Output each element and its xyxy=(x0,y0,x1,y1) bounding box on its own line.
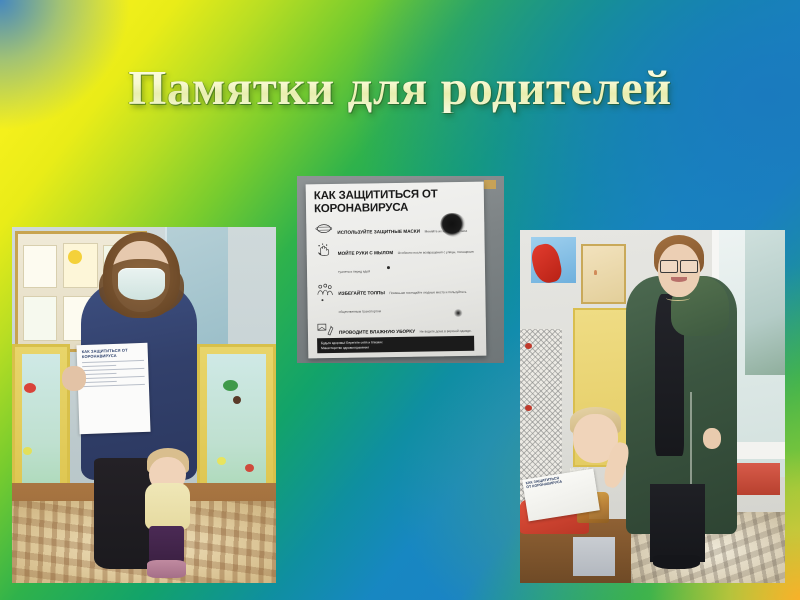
tape-corner xyxy=(484,180,496,189)
picture-figure xyxy=(594,270,597,275)
parent-legs xyxy=(650,484,706,562)
photo-right-scene: Music of Life КАК ЗАЩИТИТЬСЯ ОТ КОРОНАВИ… xyxy=(520,230,785,583)
face-mask-icon xyxy=(315,221,334,236)
cabinet-panel xyxy=(207,354,266,501)
photo-right-parent-with-boy[interactable]: Music of Life КАК ЗАЩИТИТЬСЯ ОТ КОРОНАВИ… xyxy=(520,230,785,583)
presentation-slide: Памятки для родителей xyxy=(0,0,800,600)
leaflet-line xyxy=(83,376,145,380)
flower-decoration xyxy=(245,464,254,472)
leaflet-line xyxy=(83,384,145,388)
child-trousers xyxy=(573,537,615,576)
glasses-lens xyxy=(660,260,678,273)
leaflet-line xyxy=(82,360,144,364)
parent-hand xyxy=(62,366,86,391)
photo-left-parent-with-child[interactable]: КАК ЗАЩИТИТЬСЯ ОТ КОРОНАВИРУСА xyxy=(12,227,276,583)
glasses-lens xyxy=(680,260,698,273)
poster-title: КАК ЗАЩИТИТЬСЯ ОТ КОРОНАВИРУСА xyxy=(314,188,476,216)
child-shirt xyxy=(145,483,190,529)
face-mask-icon xyxy=(118,268,166,300)
childrens-drawing xyxy=(23,245,58,288)
coat-zipper xyxy=(690,392,692,484)
photo-center-covid-poster[interactable]: КАК ЗАЩИТИТЬСЯ ОТ КОРОНАВИРУСА ИСПОЛЬЗУЙ… xyxy=(297,176,504,363)
parent-shoes xyxy=(653,555,701,569)
framed-picture xyxy=(581,244,626,304)
leaflet-line xyxy=(82,373,116,376)
cleaning-icon xyxy=(316,322,335,337)
childrens-drawing xyxy=(23,296,58,342)
crowd-icon xyxy=(316,282,335,297)
photo-left-scene: КАК ЗАЩИТИТЬСЯ ОТ КОРОНАВИРУСА xyxy=(12,227,276,583)
poster-item-heading: ИСПОЛЬЗУЙТЕ ЗАЩИТНЫЕ МАСКИ xyxy=(338,229,421,235)
leaflet-line xyxy=(82,365,116,368)
magnet-group xyxy=(525,343,552,407)
photo-center-scene: КАК ЗАЩИТИТЬСЯ ОТ КОРОНАВИРУСА ИСПОЛЬЗУЙ… xyxy=(297,176,504,363)
page-title: Памятки для родителей xyxy=(0,62,800,113)
glasses-icon xyxy=(660,260,697,271)
childrens-drawing xyxy=(63,243,98,289)
leaf-decoration xyxy=(223,380,238,391)
leaflet-title: КАК ЗАЩИТИТЬСЯ ОТ КОРОНАВИРУСА xyxy=(82,347,145,359)
poster-item-heading: МОЙТЕ РУКИ С МЫЛОМ xyxy=(338,251,394,257)
window-glass xyxy=(745,230,785,375)
poster-item: МОЙТЕ РУКИ С МЫЛОМ Особенно после возвра… xyxy=(315,240,478,279)
hand-wash-icon xyxy=(315,243,334,258)
leaflet-line xyxy=(83,381,117,384)
poster-item-heading: ИЗБЕГАЙТЕ ТОЛПЫ xyxy=(339,290,386,296)
parent-hand xyxy=(703,428,722,449)
covid-leaflet: КАК ЗАЩИТИТЬСЯ ОТ КОРОНАВИРУСА xyxy=(76,343,150,434)
child-boots xyxy=(147,560,187,578)
poster-sheet: КАК ЗАЩИТИТЬСЯ ОТ КОРОНАВИРУСА ИСПОЛЬЗУЙ… xyxy=(306,182,487,359)
sun-decoration xyxy=(68,250,82,264)
poster-item-text: МОЙТЕ РУКИ С МЫЛОМ Особенно после возвра… xyxy=(338,240,478,278)
leaflet-line xyxy=(82,368,144,372)
poster-footer-line2: Министерство здравоохранения xyxy=(321,344,470,350)
magnet xyxy=(525,343,532,349)
cabinet-panel xyxy=(22,354,60,501)
poster-item-heading: ПРОВОДИТЕ ВЛАЖНУЮ УБОРКУ xyxy=(339,329,415,335)
